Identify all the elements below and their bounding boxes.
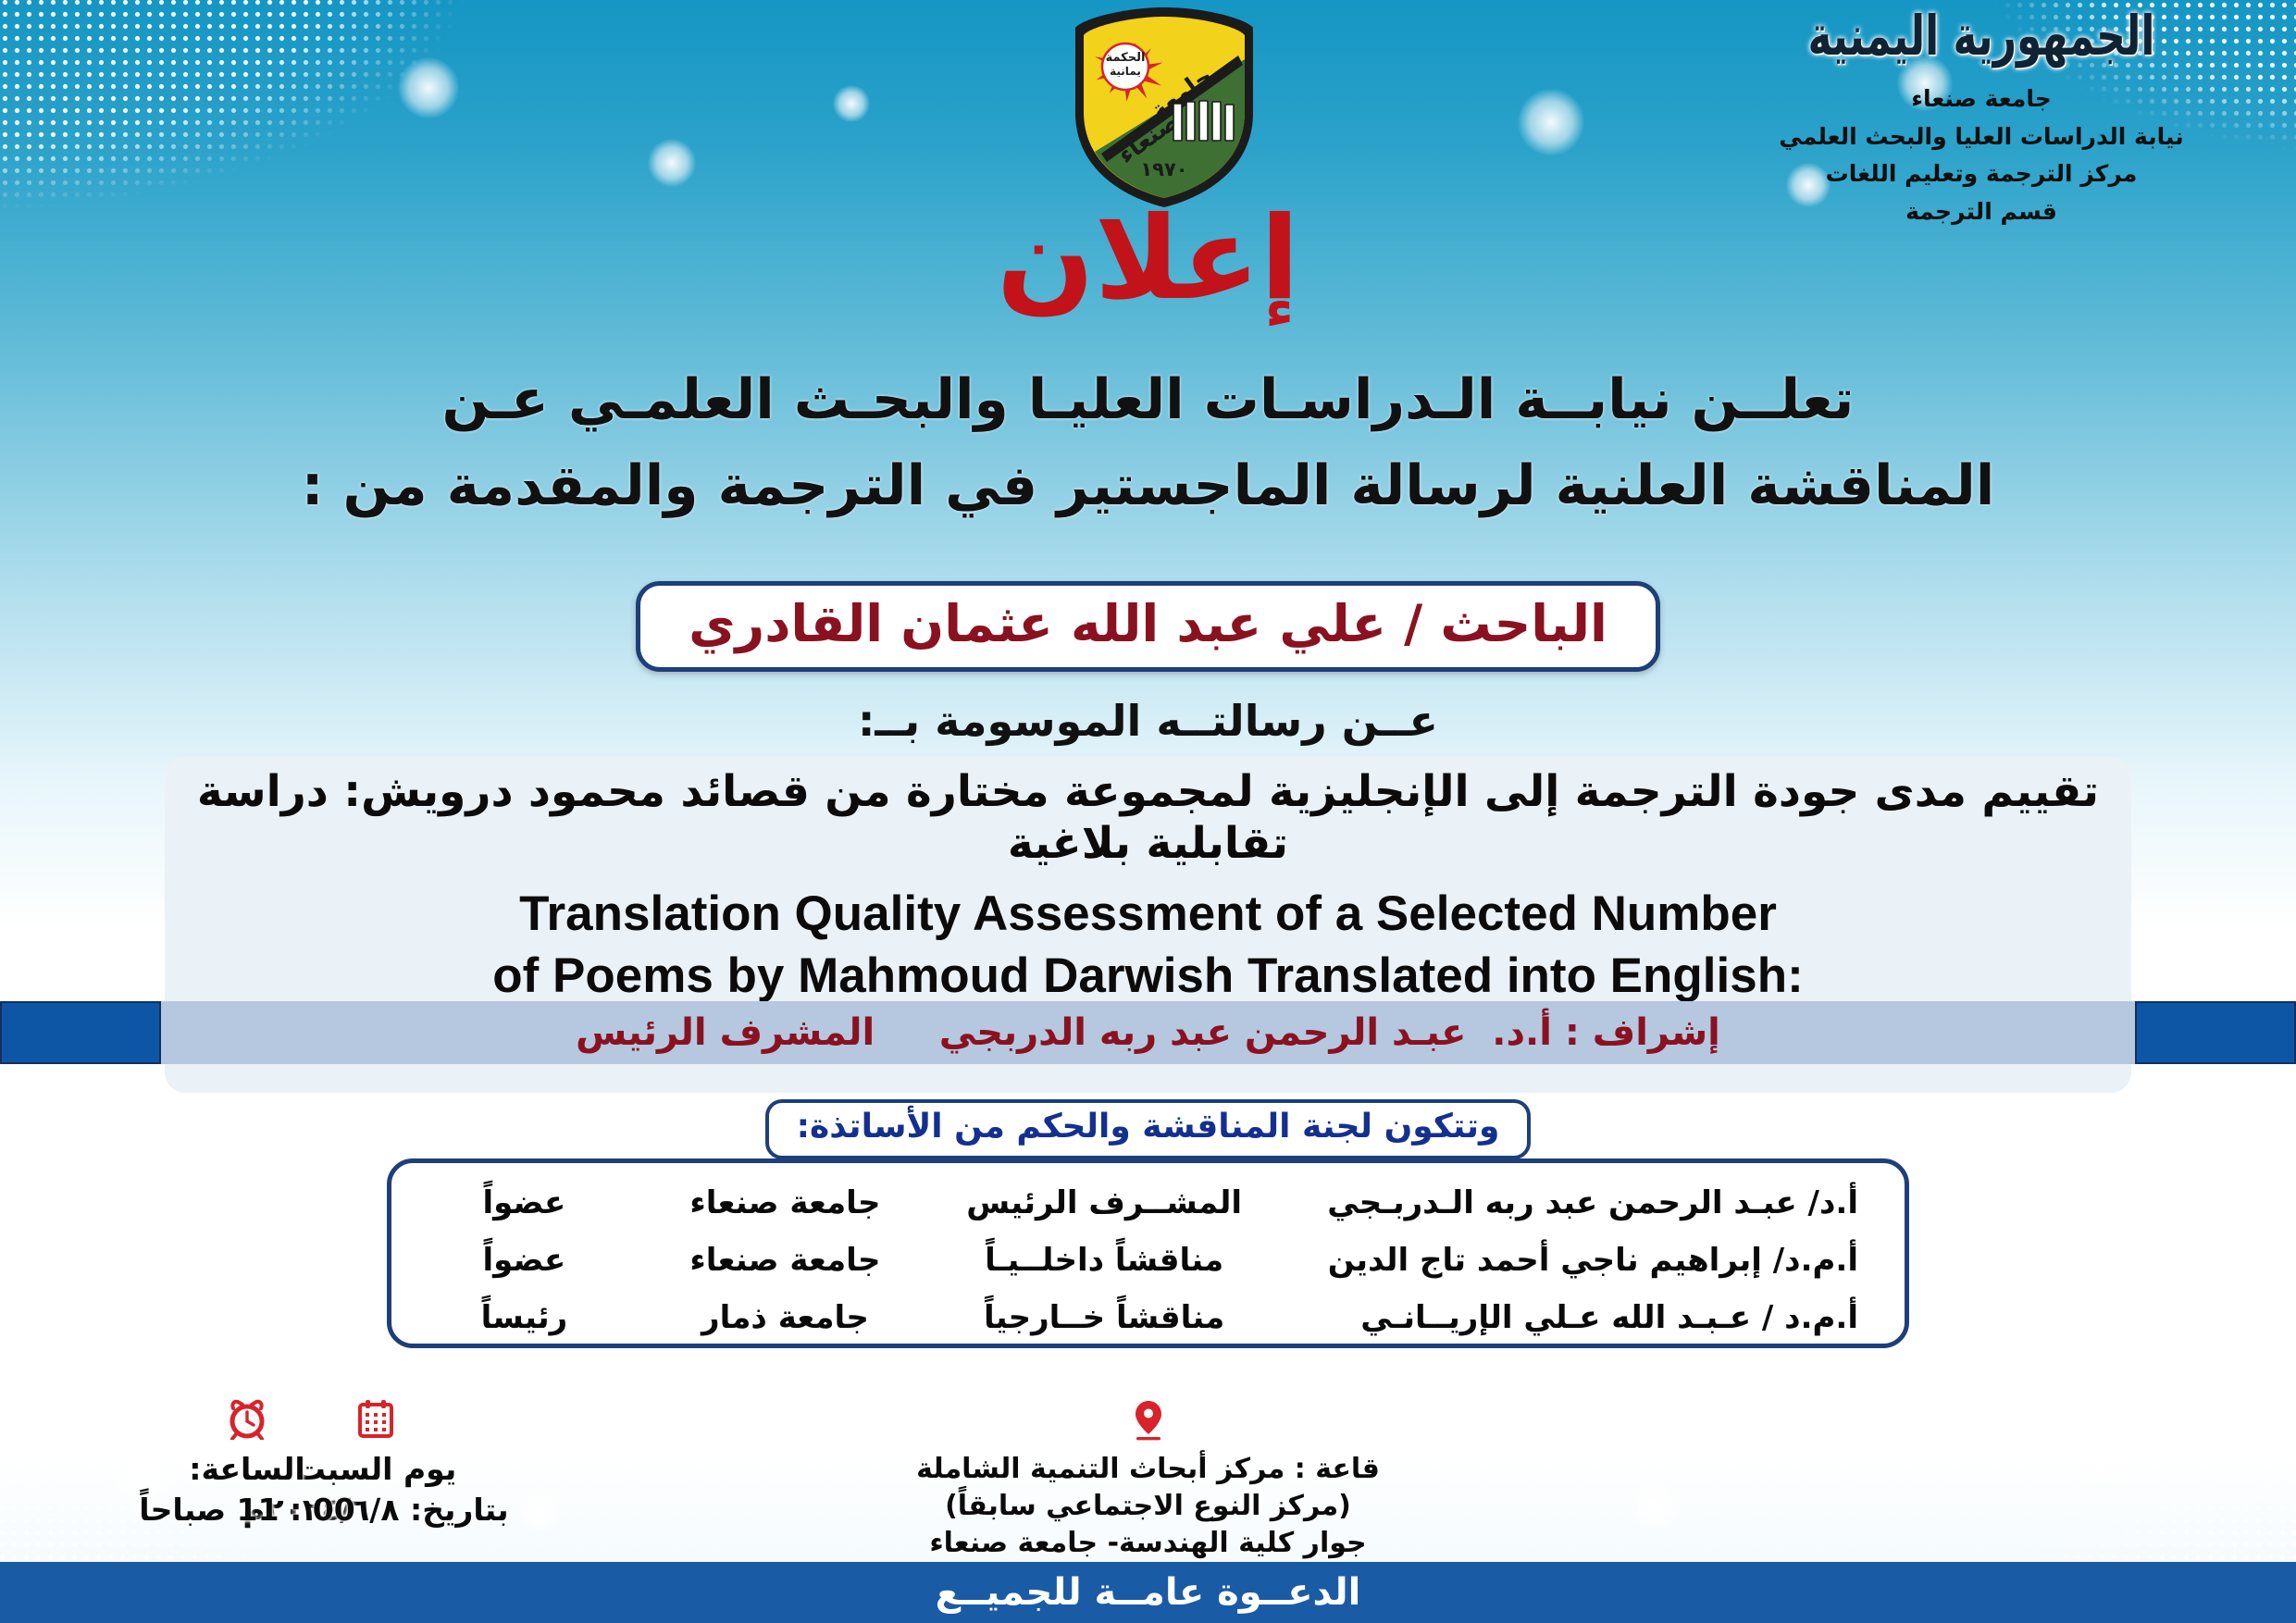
supervisor-band: إشراف : أ.د. عبـد الرحمن عبد ربه الدربجي… [0,1001,2296,1064]
bokeh-circle [1518,89,1584,155]
university-name: جامعة صنعاء [1722,81,2240,118]
supervisor-text: إشراف : أ.د. عبـد الرحمن عبد ربه الدربجي… [576,1011,1720,1054]
researcher-section: الباحث / علي عبد الله عثمان القادري [0,581,2296,672]
supervisor-band-cap-left [0,1001,161,1064]
announcement-poster: الحكمة يمانية جامعة صنعاء ١٩٧٠ الجمهورية… [0,0,2296,1623]
supervisor-band-center: إشراف : أ.د. عبـد الرحمن عبد ربه الدربجي… [161,1001,2135,1064]
invitation-footer-band: الدعــوة عامــة للجميــع [0,1562,2296,1623]
researcher-name-badge: الباحث / علي عبد الله عثمان القادري [636,581,1660,672]
svg-text:يمانية: يمانية [1110,65,1141,78]
svg-text:الحكمة: الحكمة [1106,51,1146,65]
committee-member-rank: عضواً [408,1184,640,1221]
committee-member-university: جامعة صنعاء [640,1242,930,1279]
venue-line-3: جوار كلية الهندسة- جامعة صنعاء [889,1525,1408,1562]
committee-member-name: أ.م.د/ إبراهيم ناجي أحمد تاج الدين [1278,1242,1873,1279]
center-name: مركز الترجمة وتعليم اللغات [1722,155,2240,193]
alarm-clock-icon [48,1399,446,1443]
venue-line-2: (مركز النوع الاجتماعي سابقاً) [889,1488,1408,1525]
committee-member-university: جامعة صنعاء [640,1184,930,1221]
university-emblem: الحكمة يمانية جامعة صنعاء ١٩٧٠ [1064,4,1264,211]
committee-heading: وتتكون لجنة المناقشة والحكم من الأساتذة: [765,1099,1532,1159]
thesis-lead-text: عــن رسالتــه الموسومة بــ: [0,696,2296,746]
invitation-text: الدعــوة عامــة للجميــع [936,1571,1361,1614]
committee-member-name: أ.م.د / عـبـد الله عـلي الإريــانـي [1278,1299,1873,1336]
bokeh-circle [648,139,696,187]
committee-member-role: المشــرف الرئيس [930,1184,1278,1221]
university-header-block: الجمهورية اليمنية جامعة صنعاء نيابة الدر… [1722,13,2240,230]
table-row: أ.م.د/ إبراهيم ناجي أحمد تاج الدين مناقش… [391,1232,1905,1289]
page-title: إعلان [0,202,2296,316]
declaration-text: تعلــن نيابــة الـدراسـات العليـا والبحـ… [0,361,2296,526]
table-row: أ.د/ عبـد الرحمن عبد ربه الـدربـجي المشـ… [391,1174,1905,1232]
thesis-title-english-line-2: of Poems by Mahmoud Darwish Translated i… [187,946,2109,1008]
bokeh-circle [833,85,870,122]
thesis-title-english-line-1: Translation Quality Assessment of a Sele… [187,884,2109,946]
svg-text:١٩٧٠: ١٩٧٠ [1140,158,1187,180]
location-pin-icon [889,1399,1408,1445]
declaration-line-2: المناقشة العلنية لرسالة الماجستير في الت… [0,447,2296,526]
supervisor-band-cap-right [2135,1001,2296,1064]
bokeh-circle [398,57,459,118]
table-row: أ.م.د / عـبـد الله عـلي الإريــانـي مناق… [391,1289,1905,1346]
university-arabic-logotype: الجمهورية اليمنية [1722,5,2240,68]
committee-table: أ.د/ عبـد الرحمن عبد ربه الـدربـجي المشـ… [387,1158,1909,1348]
declaration-line-1: تعلــن نيابــة الـدراسـات العليـا والبحـ… [442,367,1855,432]
thesis-title-arabic: تقييم مدى جودة الترجمة إلى الإنجليزية لم… [187,766,2109,871]
committee-member-rank: رئيساً [408,1299,640,1336]
venue-line-1: قاعة : مركز أبحاث التنمية الشاملة [889,1451,1408,1488]
committee-member-name: أ.د/ عبـد الرحمن عبد ربه الـدربـجي [1278,1184,1873,1221]
time-value: 00 : 11 صباحاً [48,1490,446,1530]
event-info-row: يوم السبت بتاريخ: ٢٠٢٤/٦/٨م قاعة : مركز … [0,1399,2296,1567]
time-label: الساعة: [48,1449,446,1490]
committee-heading-wrapper: وتتكون لجنة المناقشة والحكم من الأساتذة: [0,1099,2296,1159]
event-venue-block: قاعة : مركز أبحاث التنمية الشاملة (مركز … [889,1399,1408,1563]
committee-member-rank: عضواً [408,1242,640,1279]
committee-member-role: مناقشاً خــارجياً [930,1299,1278,1336]
committee-member-university: جامعة ذمار [640,1299,930,1336]
vice-rectorate-name: نيابة الدراسات العليا والبحث العلمي [1722,118,2240,156]
event-time-block: الساعة: 00 : 11 صباحاً [48,1399,446,1530]
committee-member-role: مناقشاً داخلــيـاً [930,1242,1278,1279]
